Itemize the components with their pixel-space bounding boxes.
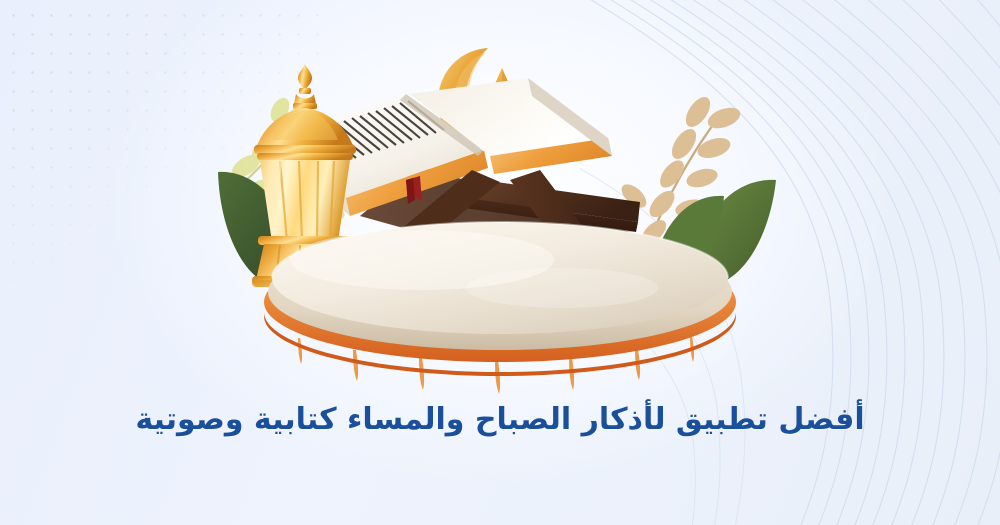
headline-text: أفضل تطبيق لأذكار الصباح والمساء كتابية …	[135, 398, 864, 442]
banner-root: أفضل تطبيق لأذكار الصباح والمساء كتابية …	[0, 0, 1000, 525]
islamic-3d-illustration	[210, 20, 790, 410]
red-bookmark-ribbon	[406, 176, 422, 204]
podium-platform	[264, 222, 736, 394]
headline: أفضل تطبيق لأذكار الصباح والمساء كتابية …	[0, 398, 1000, 442]
